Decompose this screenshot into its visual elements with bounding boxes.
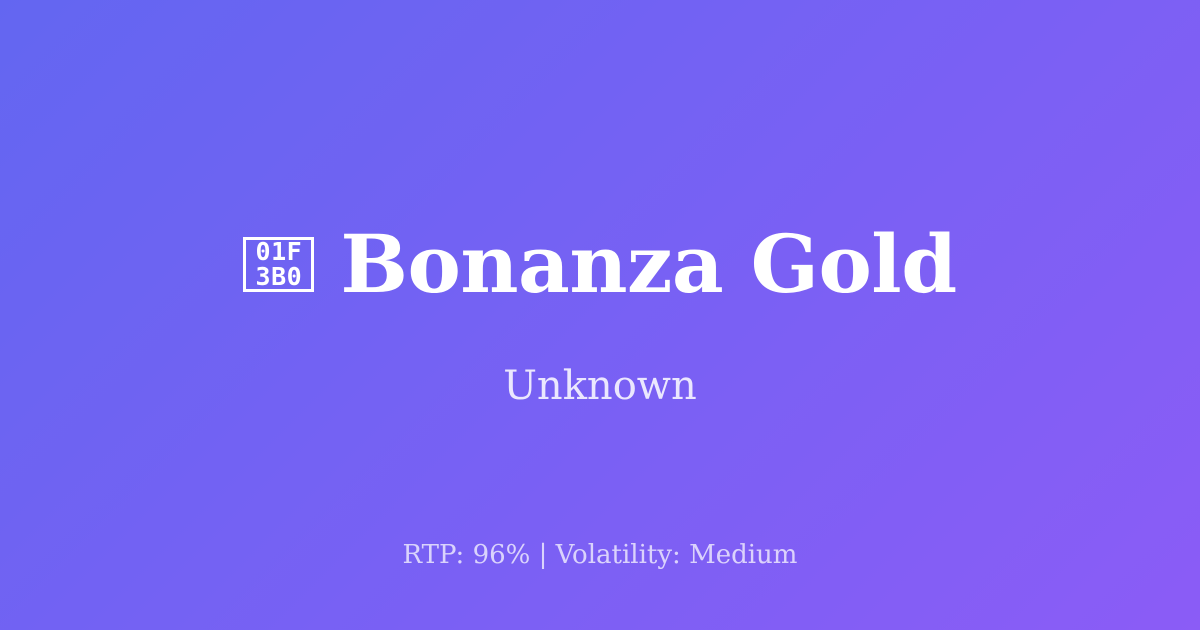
page-title: Bonanza Gold [340,224,956,304]
slot-machine-icon: 01F 3B0 [243,237,314,292]
tofu-codepoint-top: 01F [256,239,303,264]
game-share-card: 01F 3B0 Bonanza Gold Unknown RTP: 96% | … [0,0,1200,630]
tofu-codepoint-bottom: 3B0 [256,264,303,289]
card-meta-stats: RTP: 96% | Volatility: Medium [0,542,1200,568]
card-title-row: 01F 3B0 Bonanza Gold [0,224,1200,304]
card-subtitle: Unknown [503,366,697,406]
